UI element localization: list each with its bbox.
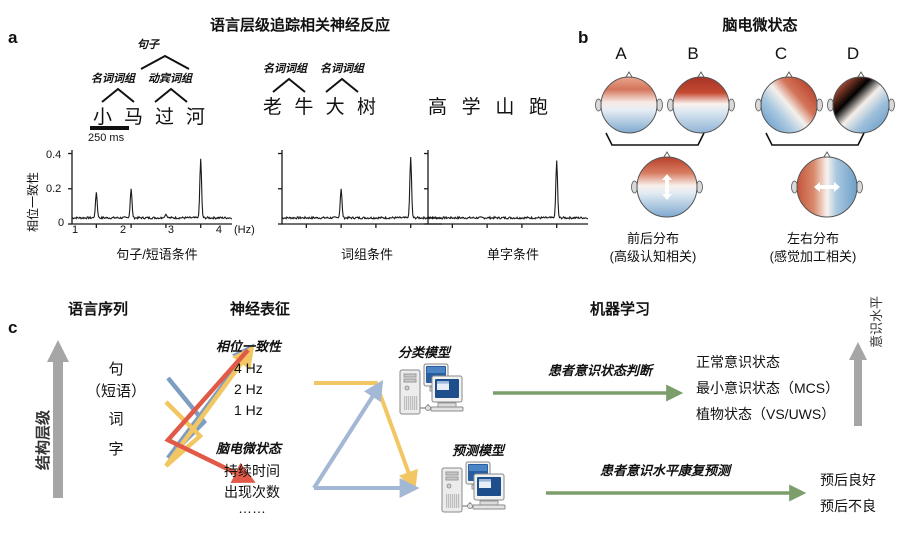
panel-c-letter: c (8, 318, 17, 338)
panel-c-heading-2: 机器学习 (500, 298, 740, 319)
classification-model-computer-icon (398, 360, 470, 418)
panel-c-right-axis-label: 意识水平 (866, 296, 885, 348)
tree-2-char-2: 大 (326, 92, 345, 119)
model-1-output-0: 预后良好 (820, 470, 876, 490)
topomap-D (830, 70, 894, 138)
hierarchy-item-1: （短语） (70, 380, 162, 401)
neural-group-2-title: 脑电微状态 (216, 438, 281, 457)
tree-2-char-0: 老 (263, 92, 282, 119)
hierarchy-item-0: 句 (78, 358, 154, 379)
prediction-model-computer-icon (440, 458, 512, 516)
model-1-output-1: 预后不良 (820, 496, 876, 516)
tree-2-char-3: 树 (357, 92, 376, 119)
model-0-output-0: 正常意识状态 (696, 352, 780, 372)
panel-a-ylabel: 相位一致性 (24, 172, 41, 232)
scale-bar-label: 250 ms (88, 132, 124, 144)
tree-3-char-1: 学 (462, 92, 481, 119)
model-1-green-arrow-icon (546, 486, 806, 500)
spectrum-chart-1 (72, 150, 240, 232)
ytick-0p4: 0.4 (46, 149, 61, 161)
neural-group-1-title: 相位一致性 (216, 336, 281, 355)
panel-b-letter: b (578, 28, 588, 48)
topomap-label-C: C (760, 44, 802, 64)
topomap-label-B: B (672, 44, 714, 64)
ytick-0: 0 (58, 217, 64, 229)
topomap-summary-anterior-posterior (634, 150, 702, 222)
panel-c-heading-0: 语言序列 (38, 298, 158, 319)
tree-1-char-1: 马 (124, 102, 143, 129)
spectrum-chart-3 (428, 150, 596, 232)
tree-2-mid-label-1: 名词词组 (320, 60, 364, 76)
tree-3-chars: 高 学 山 跑 (428, 92, 548, 119)
tree-1-char-0: 小 (93, 102, 112, 129)
topomap-A (598, 70, 662, 138)
model-0-arrow-label: 患者意识状态判断 (548, 360, 652, 379)
tree-3-char-2: 山 (495, 92, 514, 119)
panel-a-letter: a (8, 28, 17, 48)
topomap-C (758, 70, 822, 138)
xtick-3: 3 (168, 224, 174, 236)
tree-1-char-2: 过 (155, 102, 174, 129)
xtick-4: 4 (216, 224, 222, 236)
chart-1-xunit: (Hz) (234, 224, 255, 236)
topomap-label-D: D (832, 44, 874, 64)
neural-group-2-item-0: 持续时间 (224, 461, 280, 481)
topomap-summary-left-right (794, 150, 862, 222)
consciousness-level-arrow-icon (848, 342, 868, 428)
group-sublabel-1: (感觉加工相关) (744, 246, 882, 265)
tree-2-char-1: 牛 (294, 92, 313, 119)
tree-1-top-label: 句子 (137, 36, 159, 52)
tree-1-mid-label-1: 动宾词组 (148, 70, 192, 86)
chart-1-xticks: 1 2 3 4 (72, 224, 222, 236)
model-0-green-arrow-icon (493, 386, 683, 400)
tree-1-chars: 小 马 过 河 (93, 102, 205, 129)
condition-label-0: 句子/短语条件 (72, 244, 242, 263)
tree-1-top-branch (125, 54, 205, 70)
condition-label-1: 词组条件 (282, 244, 452, 263)
neural-group-2-item-2: …… (238, 500, 266, 516)
hierarchy-item-3: 字 (78, 438, 154, 459)
scale-bar (90, 126, 129, 130)
neural-group-1-item-0: 4 Hz (234, 360, 263, 376)
tree-3-char-3: 跑 (529, 92, 548, 119)
topomap-B (670, 70, 734, 138)
hierarchy-item-2: 词 (78, 408, 154, 429)
model-0-name: 分类模型 (398, 342, 450, 361)
model-0-output-2: 植物状态（VS/UWS） (696, 404, 835, 424)
group-sublabel-0: (高级认知相关) (584, 246, 722, 265)
panel-c-left-axis-label: 结构层级 (32, 410, 53, 470)
tree-1-char-3: 河 (186, 102, 205, 129)
tree-2-chars: 老 牛 大 树 (263, 92, 376, 119)
panel-a-title: 语言层级追踪相关神经反应 (140, 14, 460, 35)
xtick-1: 1 (72, 224, 78, 236)
tree-2-mid-label-0: 名词词组 (263, 60, 307, 76)
condition-label-2: 单字条件 (428, 244, 598, 263)
group-brackets (598, 132, 898, 148)
group-label-0: 前后分布 (598, 228, 708, 247)
topomap-label-A: A (600, 44, 642, 64)
tree-3-char-0: 高 (428, 92, 447, 119)
tree-1-mid-label-0: 名词词组 (91, 70, 135, 86)
panel-b-title: 脑电微状态 (660, 14, 860, 35)
neural-group-1-item-1: 2 Hz (234, 381, 263, 397)
model-0-output-1: 最小意识状态（MCS） (696, 378, 839, 398)
group-label-1: 左右分布 (758, 228, 868, 247)
xtick-2: 2 (120, 224, 126, 236)
spectrum-chart-2 (282, 150, 450, 232)
neural-group-1-item-2: 1 Hz (234, 402, 263, 418)
panel-c-heading-1: 神经表征 (200, 298, 320, 319)
neural-group-2-item-1: 出现次数 (224, 482, 280, 502)
model-1-arrow-label: 患者意识水平康复预测 (600, 460, 730, 479)
model-1-name: 预测模型 (452, 440, 504, 459)
ytick-0p2: 0.2 (46, 183, 61, 195)
